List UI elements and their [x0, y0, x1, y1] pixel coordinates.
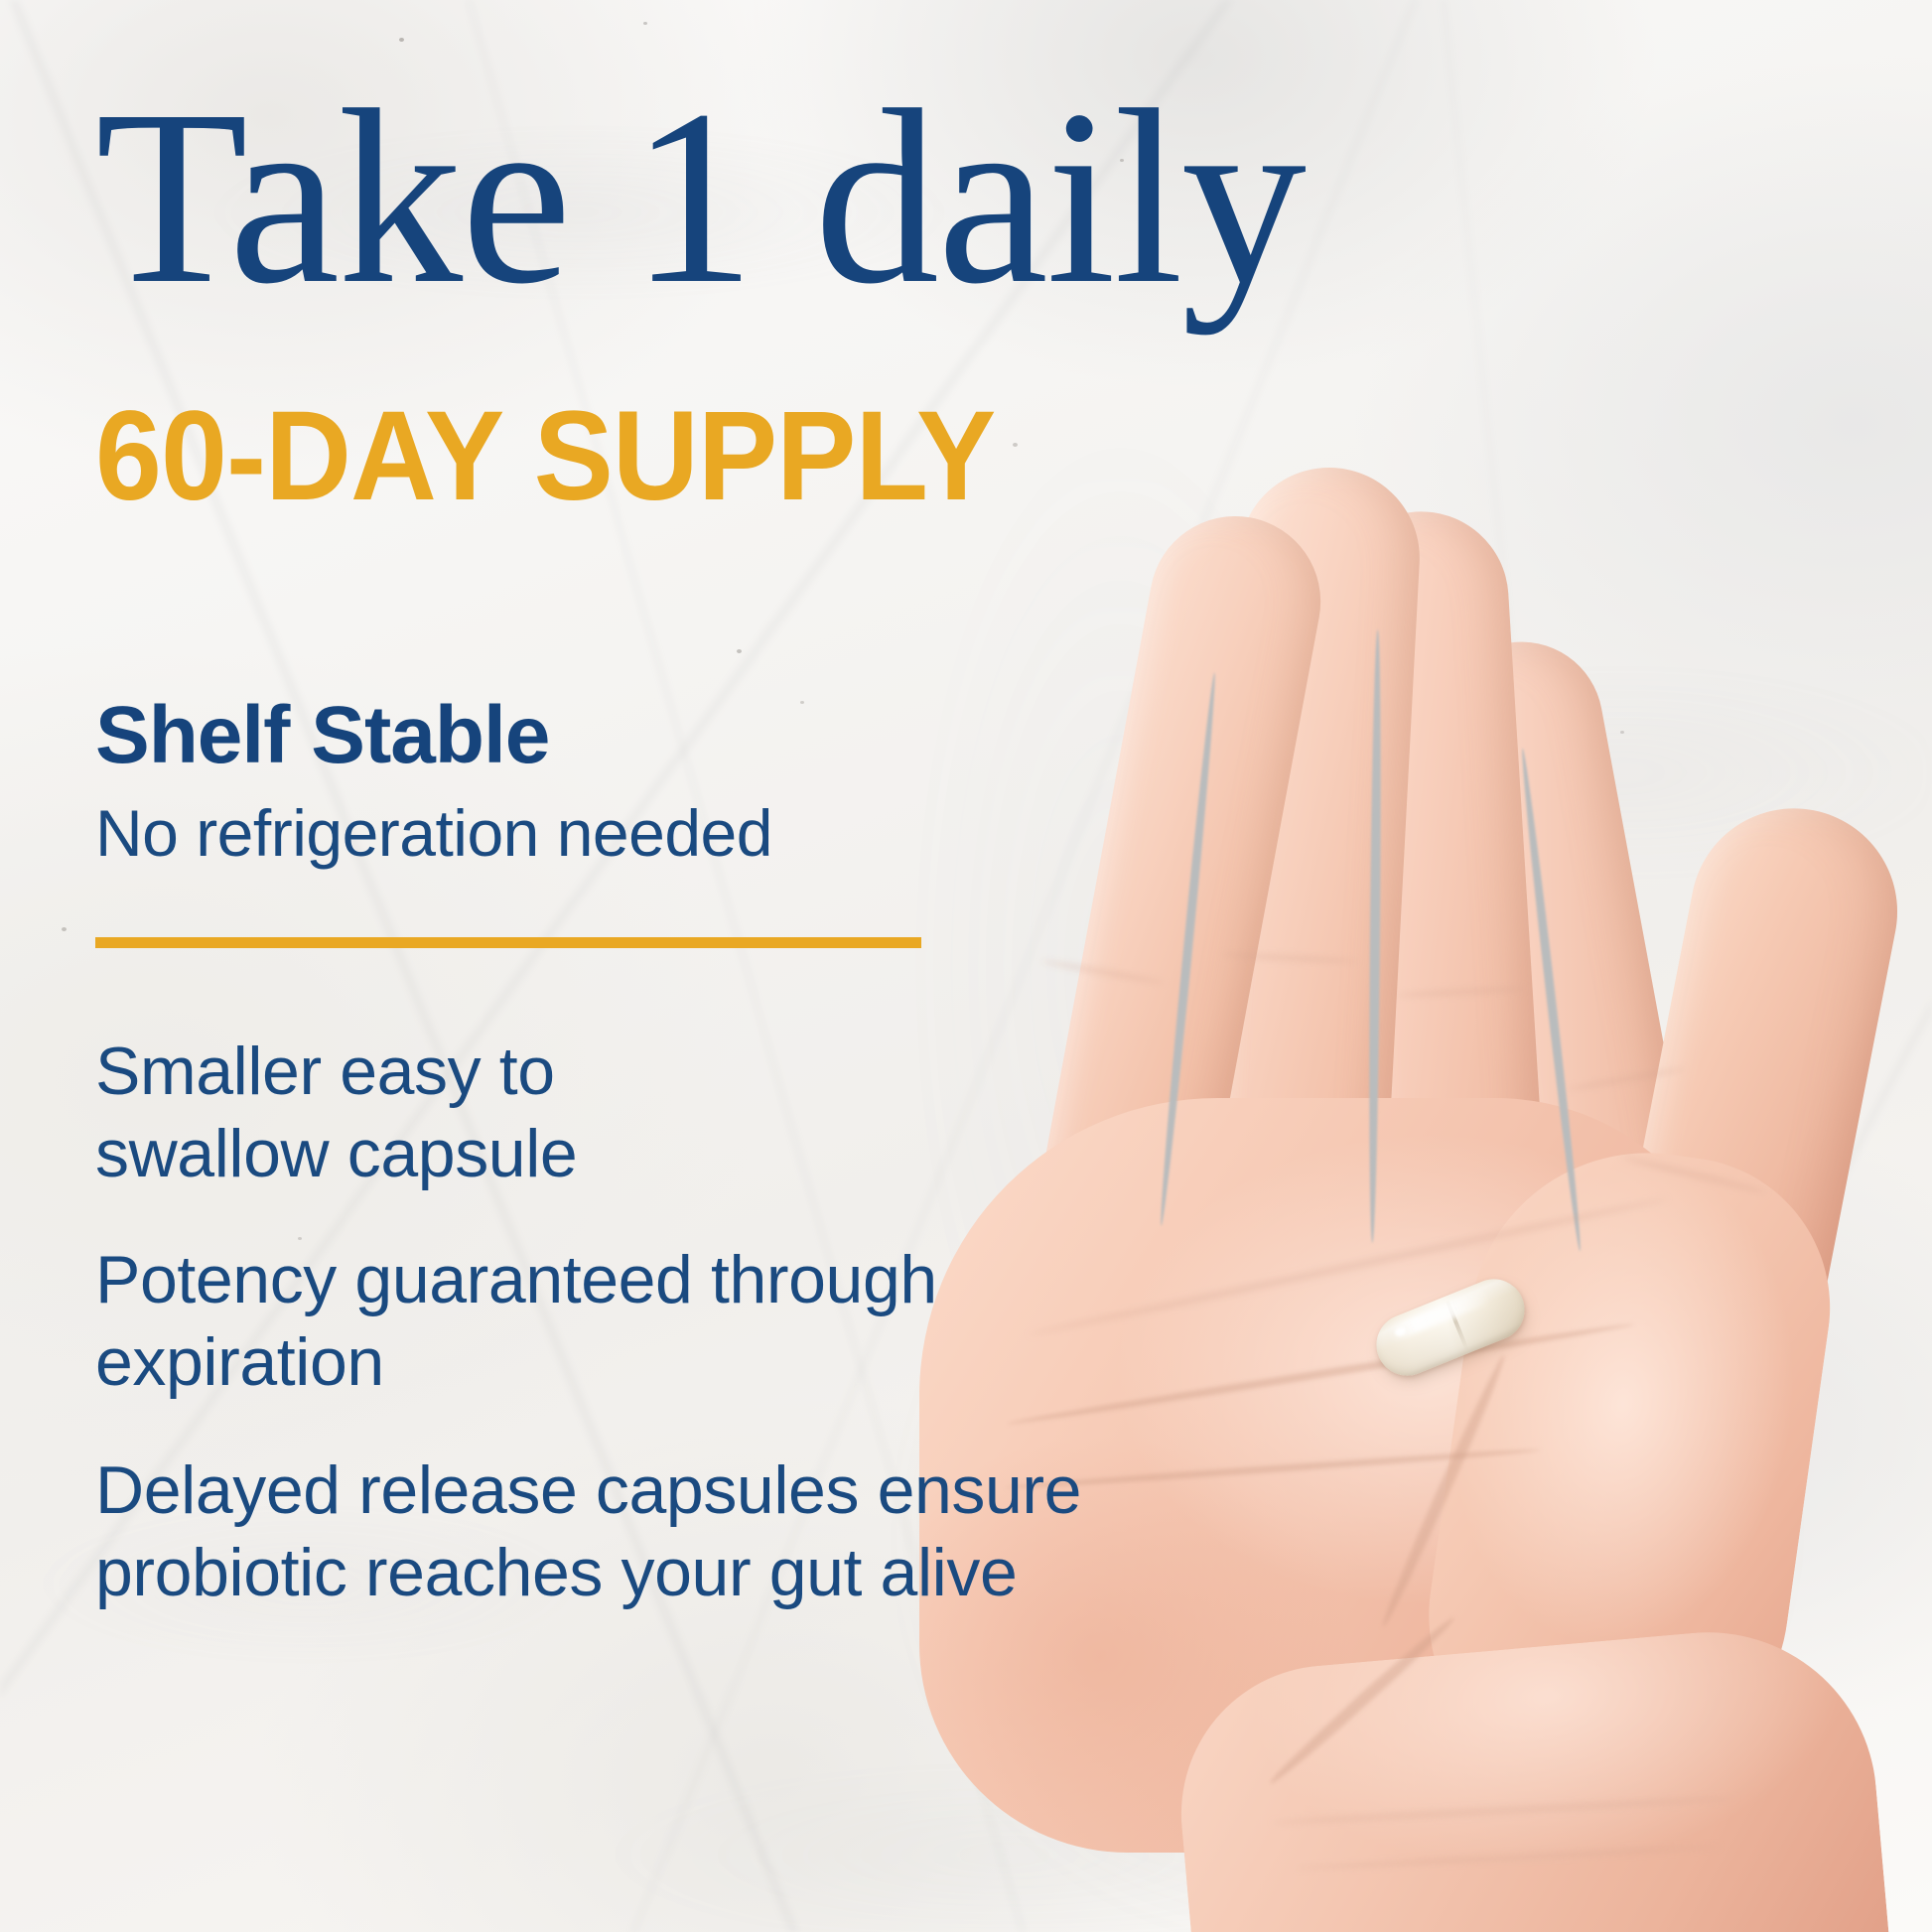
- feature-item-potency-guaranteed: Potency guaranteed through expiration: [95, 1239, 949, 1404]
- gold-divider-rule: [95, 937, 921, 948]
- text-column: Take 1 daily 60-DAY SUPPLY Shelf Stable …: [0, 0, 1112, 1932]
- supply-duration-subtitle: 60-DAY SUPPLY: [95, 393, 995, 520]
- benefit-subtext-no-refrigeration: No refrigeration needed: [95, 800, 772, 866]
- feature-item-delayed-release: Delayed release capsules ensure probioti…: [95, 1449, 1148, 1614]
- benefit-heading-shelf-stable: Shelf Stable: [95, 695, 549, 776]
- feature-item-smaller-capsule: Smaller easy to swallow capsule: [95, 1031, 790, 1195]
- page-title: Take 1 daily: [95, 71, 1305, 322]
